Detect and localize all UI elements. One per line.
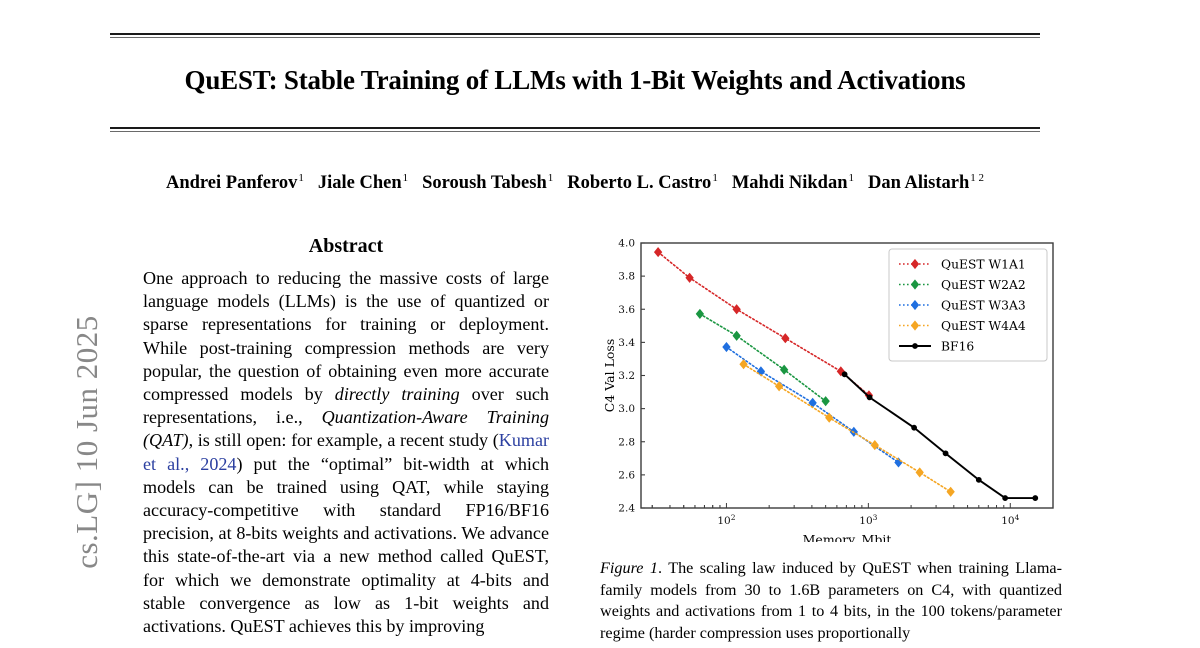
legend-label: BF16: [941, 339, 974, 353]
legend-label: QuEST W2A2: [941, 278, 1026, 292]
y-axis-title: C4 Val Loss: [602, 339, 617, 412]
arxiv-stamp: cs.LG] 10 Jun 2025: [69, 292, 105, 592]
y-axis-tick-label: 3.4: [618, 337, 635, 349]
abstract-text: One approach to reducing the massive cos…: [143, 267, 549, 638]
x-axis-title: Memory, Mbit: [803, 532, 892, 542]
header-rule-bottom: [110, 127, 1040, 132]
y-axis-tick-label: 4.0: [618, 238, 635, 250]
author-name: Andrei Panferov1: [166, 173, 304, 193]
abstract-heading: Abstract: [143, 235, 549, 258]
author-name: Mahdi Nikdan1: [732, 173, 854, 193]
data-point: [1003, 495, 1008, 500]
author-affiliation-marker: 1: [548, 172, 554, 184]
author-affiliation-marker: 1: [712, 172, 718, 184]
legend-label: QuEST W4A4: [941, 319, 1026, 333]
y-axis-tick-label: 3.2: [618, 370, 635, 382]
x-axis-tick-label: 103: [859, 513, 877, 527]
abstract-run: ) put the “optimal” bit-width at which m…: [143, 454, 549, 636]
chart-legend: QuEST W1A1QuEST W2A2QuEST W3A3QuEST W4A4…: [889, 249, 1047, 361]
y-axis-tick-label: 2.6: [618, 469, 635, 481]
abstract-emphasis: directly training: [335, 384, 460, 404]
data-point: [867, 395, 872, 400]
data-point: [842, 372, 847, 377]
author-name: Soroush Tabesh1: [422, 173, 553, 193]
paper-page: cs.LG] 10 Jun 2025 QuEST: Stable Trainin…: [0, 0, 1200, 648]
author-affiliation-marker: 1 2: [970, 172, 984, 184]
legend-label: QuEST W3A3: [941, 298, 1026, 312]
figure-caption-text: . The scaling law induced by QuEST when …: [600, 559, 1062, 642]
author-list: Andrei Panferov1Jiale Chen1Soroush Tabes…: [110, 172, 1040, 194]
author-affiliation-marker: 1: [298, 172, 304, 184]
figure-caption-label: Figure 1: [600, 559, 658, 577]
legend-label: QuEST W1A1: [941, 257, 1026, 271]
data-point: [911, 425, 916, 430]
author-name: Roberto L. Castro1: [567, 173, 718, 193]
page-title: QuEST: Stable Training of LLMs with 1-Bi…: [110, 63, 1040, 97]
figure-1-caption: Figure 1. The scaling law induced by QuE…: [600, 558, 1062, 644]
data-point: [1033, 495, 1038, 500]
y-axis-tick-label: 2.8: [618, 436, 635, 448]
author-affiliation-marker: 1: [848, 172, 854, 184]
y-axis-tick-label: 3.8: [618, 271, 635, 283]
author-name: Jiale Chen1: [318, 173, 408, 193]
x-axis-tick-label: 102: [717, 513, 735, 527]
abstract-column: Abstract One approach to reducing the ma…: [143, 235, 549, 638]
scaling-law-plot: 4.03.83.63.43.23.02.82.62.4102103104Memo…: [600, 232, 1060, 542]
y-axis-tick-label: 3.0: [618, 403, 635, 415]
data-point: [912, 343, 917, 348]
header-rule-top: [110, 33, 1040, 38]
x-axis-tick-label: 104: [1001, 513, 1019, 527]
y-axis-tick-label: 3.6: [618, 304, 635, 316]
abstract-run: , is still open: for example, a recent s…: [189, 430, 499, 450]
author-affiliation-marker: 1: [403, 172, 409, 184]
y-axis-tick-label: 2.4: [618, 503, 635, 515]
data-point: [943, 451, 948, 456]
figure-1-chart: 4.03.83.63.43.23.02.82.62.4102103104Memo…: [600, 232, 1060, 542]
data-point: [976, 477, 981, 482]
author-name: Dan Alistarh1 2: [868, 173, 984, 193]
